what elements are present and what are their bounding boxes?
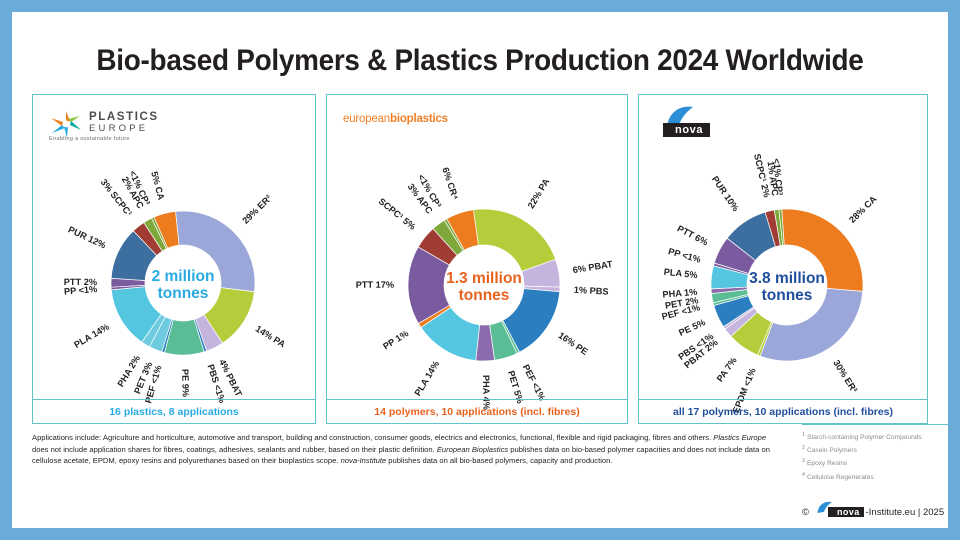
donut-chart-european-bioplastics: 22% PA6% PBAT1% PBS16% PEPEF <1%PET 5%PH… — [327, 95, 629, 425]
donut-center-label-line2: tonnes — [158, 285, 209, 302]
footnote-marker: 2 — [802, 445, 805, 451]
chart-panel-plastics-europe: PLASTICS EUROPE Enabling a sustainable f… — [32, 94, 316, 424]
donut-slice-label: 1% PBS — [574, 285, 609, 297]
donut-slice-label: PE 9% — [180, 369, 191, 397]
donut-slice-label: SCPC¹ 5% — [377, 196, 418, 232]
donut-slice-label: PUR 10% — [710, 174, 741, 213]
donut-chart-nova-institute: 28% CA30% ER³EPDM <1%PA 7%PBAT 2%PBS <1%… — [639, 95, 929, 425]
footnote-text: Starch-containing Polymer Compounds — [807, 434, 922, 441]
infographic-card: Bio-based Polymers & Plastics Production… — [12, 12, 948, 528]
donut-slice-label: 6% PBAT — [572, 259, 614, 275]
footnote-text: Casein Polymers — [807, 447, 857, 454]
donut-slice-label: 30% ER³ — [831, 358, 859, 394]
donut-center-label-line1: 1.3 million — [446, 270, 522, 287]
footnote-reference-4: 4Cellulose Regenerates — [802, 470, 952, 483]
donut-center-label-line1: 2 million — [152, 268, 215, 285]
donut-slice-label: PLA 5% — [663, 267, 698, 280]
infographic-page: Bio-based Polymers & Plastics Production… — [0, 0, 960, 540]
donut-slice-label: PP <1% — [667, 246, 702, 265]
panel-caption-european-bioplastics: 14 polymers, 10 applications (incl. fibr… — [327, 399, 627, 423]
donut-slice-label: PTT 17% — [356, 280, 394, 290]
donut-slice-label: 14% PA — [254, 324, 288, 350]
footnote-em-nova-institute: nova-Institute — [341, 456, 387, 465]
credit-nova-institute: © nova-Institute.eu | 2025 — [802, 504, 944, 520]
panel-caption-plastics-europe: 16 plastics, 8 applications — [33, 399, 315, 423]
footnote-divider — [802, 424, 948, 425]
footnote-marker: 1 — [802, 432, 805, 438]
footnote-em-plastics-europe: Plastics Europe — [713, 433, 766, 442]
footnote-em-european-bioplastics: European Bioplastics — [437, 445, 508, 454]
donut-slice-label: 5% CA — [149, 170, 166, 201]
footnote-reference-1: 1Starch-containing Polymer Compounds — [802, 430, 952, 443]
donut-slice-label: PUR 12% — [67, 224, 108, 250]
donut-slice-label: 29% ER² — [240, 193, 273, 226]
footnote-text: Cellulose Regenerates — [807, 474, 874, 481]
donut-slice-label: PLA 14% — [413, 359, 442, 398]
donut-slice-label: PTT 6% — [676, 223, 710, 247]
footnote-marker: 4 — [802, 472, 805, 478]
copyright-symbol: © — [802, 507, 809, 518]
donut-slice-label: PLA 14% — [72, 322, 111, 350]
chart-panel-nova-institute: nova 28% CA30% ER³EPDM <1%PA 7%PBAT 2%PB… — [638, 94, 928, 424]
footnote-reference-2: 2Casein Polymers — [802, 443, 952, 456]
donut-slice-label: PP 1% — [381, 328, 410, 351]
footnote-references: 1Starch-containing Polymer Compounds2Cas… — [802, 430, 952, 483]
footnote-part2: does not include application shares for … — [32, 445, 437, 454]
credit-nova-wordmark: nova — [828, 507, 864, 517]
donut-slice-label: 22% PA — [526, 177, 552, 211]
footnote-reference-3: 3Epoxy Resins — [802, 456, 952, 469]
page-title: Bio-based Polymers & Plastics Production… — [45, 44, 915, 78]
panel-caption-nova-institute: all 17 polymers, 10 applications (incl. … — [639, 399, 927, 423]
footnote-part1: Applications include: Agriculture and ho… — [32, 433, 713, 442]
donut-slice-label: 16% PE — [556, 330, 589, 357]
footnote-applications: Applications include: Agriculture and ho… — [32, 432, 780, 467]
donut-chart-plastics-europe: 29% ER²14% PA4% PBATPBS <1%PE 9%PEF <1%P… — [33, 95, 317, 425]
footnote-marker: 3 — [802, 458, 805, 464]
donut-slice-label: PTT 2% — [64, 277, 97, 287]
chart-panel-european-bioplastics: europeanbioplastics 22% PA6% PBAT1% PBS1… — [326, 94, 628, 424]
credit-suffix: -Institute.eu | 2025 — [866, 507, 945, 518]
donut-slice-label: 6% CR⁴ — [440, 166, 460, 202]
footnote-part4: publishes data on all bio-based polymers… — [386, 456, 612, 465]
donut-center-label-line2: tonnes — [459, 287, 510, 304]
donut-slice-label: PEF <1% — [521, 363, 548, 402]
donut-slice-label: PA 7% — [715, 355, 739, 383]
donut-center-label-line1: 3.8 million — [749, 270, 825, 287]
donut-center-label-line2: tonnes — [762, 287, 813, 304]
donut-slice — [473, 209, 555, 271]
footnote-text: Epoxy Resins — [807, 461, 847, 468]
donut-slice-label: 28% CA — [847, 194, 879, 225]
